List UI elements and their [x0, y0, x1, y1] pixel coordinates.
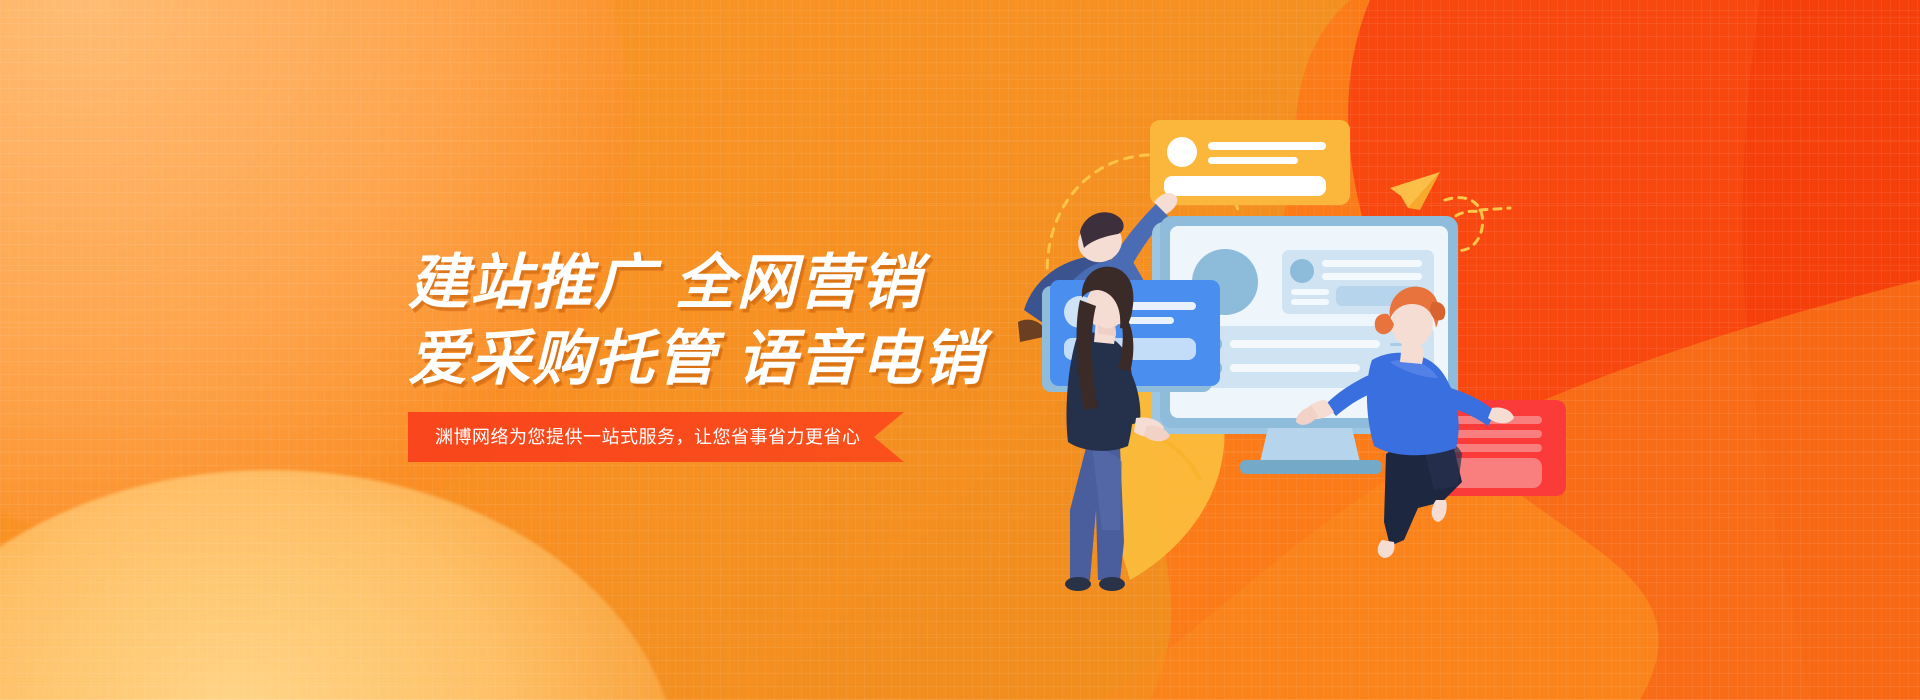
tagline-ribbon: 渊博网络为您提供一站式服务，让您省事省力更省心	[408, 412, 904, 462]
promo-banner: 建站推广 全网营销 爱采购托管 语音电销 渊博网络为您提供一站式服务，让您省事省…	[0, 0, 1920, 700]
amber-info-card	[1150, 120, 1350, 205]
headline-line-1: 建站推广 全网营销	[408, 248, 985, 318]
paper-plane-icon	[1390, 172, 1440, 210]
hero-illustration	[1090, 110, 1670, 610]
ribbon-text: 渊博网络为您提供一站式服务，让您省事省力更省心	[408, 412, 904, 462]
headline-block: 建站推广 全网营销 爱采购托管 语音电销	[408, 248, 985, 394]
headline-line-2: 爱采购托管 语音电销	[408, 324, 985, 394]
